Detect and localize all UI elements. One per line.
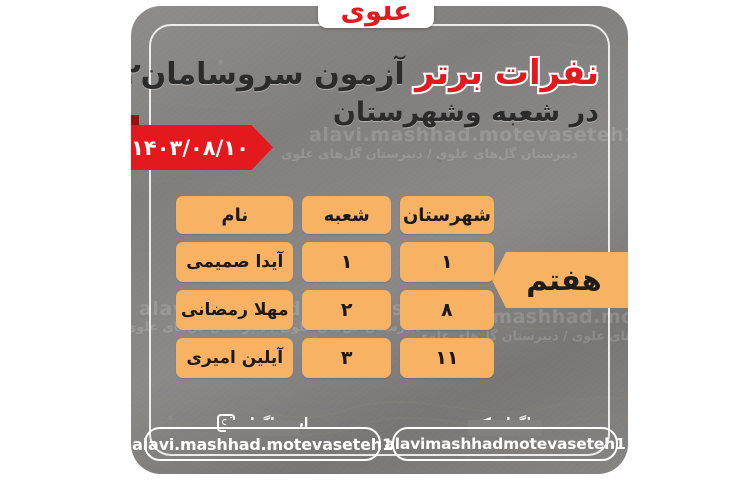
date-text: ۱۴۰۳/۰۸/۱۰ (131, 136, 261, 160)
column-header-name: نام (176, 196, 293, 234)
rank-badge: هفتم (492, 252, 628, 308)
table-row: ۱ ۱ آیدا صمیمی (176, 242, 494, 282)
cell-name: آیدا صمیمی (176, 242, 293, 282)
footer-social: اینستاگرام alavi.mashhad.motevaseteh1 تل… (141, 412, 618, 470)
cell-city: ۸ (400, 290, 494, 330)
table-row: ۸ ۲ مهلا رمضانی (176, 290, 494, 330)
ribbon-flag: ۱۴۰۳/۰۸/۱۰ (131, 125, 273, 170)
telegram-social-block[interactable]: تلگرام alavimashhadmotevaseteh1 (392, 412, 618, 470)
column-header-city: شهرستان (400, 196, 494, 234)
brand-logo-text: علوی (340, 6, 411, 28)
cell-branch: ۲ (302, 290, 390, 330)
rank-badge-label: هفتم (518, 263, 602, 297)
brand-logo-badge: علوی (318, 6, 434, 28)
table-header-row: شهرستان شعبه نام (176, 196, 494, 234)
poster-background: alavi.mashhad.motevaseteh1 دبیرستان گل‌ه… (131, 6, 628, 474)
headline-line-1-rest: آزمون سروسامان۲ (131, 57, 405, 92)
instagram-handle: alavi.mashhad.motevaseteh1 (132, 435, 393, 454)
telegram-handle-pill[interactable]: alavimashhadmotevaseteh1 (392, 427, 618, 461)
telegram-handle: alavimashhadmotevaseteh1 (384, 435, 625, 453)
column-header-branch: شعبه (302, 196, 390, 234)
headline-emphasis: نفرات برتر (415, 53, 599, 93)
headline-line-1: نفرات برتر آزمون سروسامان۲ (159, 52, 599, 94)
cell-name: مهلا رمضانی (176, 290, 293, 330)
cell-branch: ۱ (302, 242, 390, 282)
instagram-handle-pill[interactable]: alavi.mashhad.motevaseteh1 (144, 427, 381, 461)
cell-city: ۱ (400, 242, 494, 282)
cell-city: ۱۱ (400, 338, 494, 378)
date-ribbon: ۱۴۰۳/۰۸/۱۰ (131, 115, 275, 177)
watermark-persian: دبیرستان گل‌های علوی / دبیرستان گل‌های ع… (281, 146, 578, 161)
cell-branch: ۳ (302, 338, 390, 378)
poster-canvas: alavi.mashhad.motevaseteh1 دبیرستان گل‌ه… (0, 0, 750, 480)
cell-name: آیلین امیری (176, 338, 293, 378)
instagram-social-block[interactable]: اینستاگرام alavi.mashhad.motevaseteh1 (144, 412, 381, 470)
table-row: ۱۱ ۳ آیلین امیری (176, 338, 494, 378)
results-table: شهرستان شعبه نام ۱ ۱ آیدا صمیمی ۸ ۲ مهلا… (176, 196, 494, 378)
